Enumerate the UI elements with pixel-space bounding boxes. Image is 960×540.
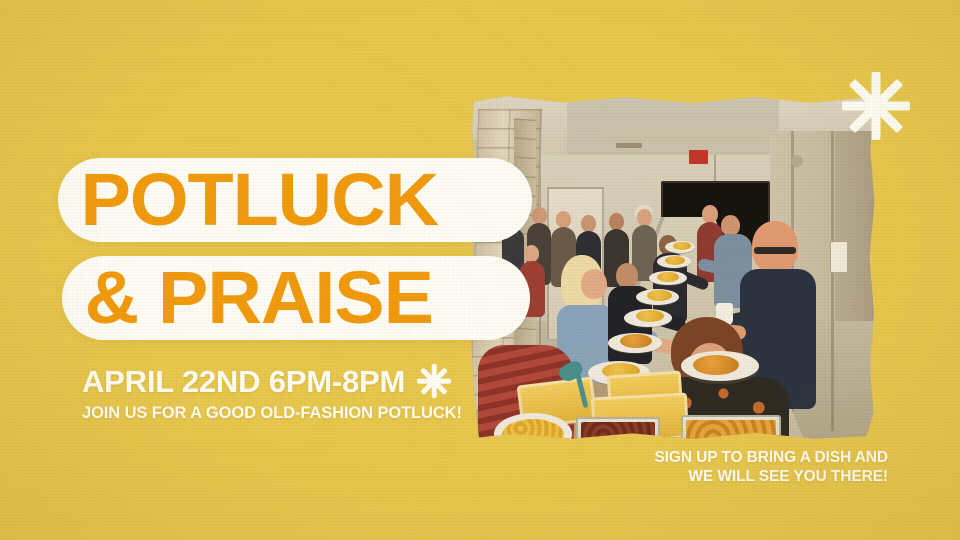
event-date-time: APRIL 22ND 6PM-8PM — [82, 366, 405, 397]
event-dateline: APRIL 22ND 6PM-8PM — [82, 364, 451, 398]
tray-nuggets — [681, 415, 781, 441]
title-pill-line-1: POTLUCK — [58, 158, 532, 242]
food-serving — [693, 355, 739, 375]
tray-baked-beans — [576, 417, 660, 441]
title-line-1: POTLUCK — [80, 163, 438, 237]
eyeglasses — [754, 247, 796, 254]
signup-line-2: WE WILL SEE YOU THERE! — [654, 467, 888, 486]
potluck-photo — [470, 95, 876, 441]
asterisk-star-icon — [417, 364, 451, 398]
event-tagline: JOIN US FOR A GOOD OLD-FASHION POTLUCK! — [82, 404, 462, 422]
asterisk-star-icon — [842, 72, 910, 140]
food-serving — [673, 242, 691, 250]
poster-canvas: POTLUCK & PRAISE APRIL 22ND 6PM-8PM JOIN… — [0, 0, 960, 540]
title-pill-line-2: & PRAISE — [62, 256, 530, 340]
title-line-2: & PRAISE — [85, 261, 433, 335]
signup-line-1: SIGN UP TO BRING A DISH AND — [654, 448, 888, 467]
ceiling-vent — [616, 143, 642, 148]
food-serving — [665, 256, 685, 265]
exit-sign — [689, 150, 708, 164]
food-serving — [620, 334, 652, 348]
food-serving — [657, 272, 679, 282]
wall-thermostat — [830, 241, 848, 273]
food-serving — [647, 290, 672, 301]
wall-seam — [831, 131, 834, 431]
signup-callout: SIGN UP TO BRING A DISH AND WE WILL SEE … — [654, 448, 888, 486]
ceiling-speaker — [791, 155, 803, 167]
